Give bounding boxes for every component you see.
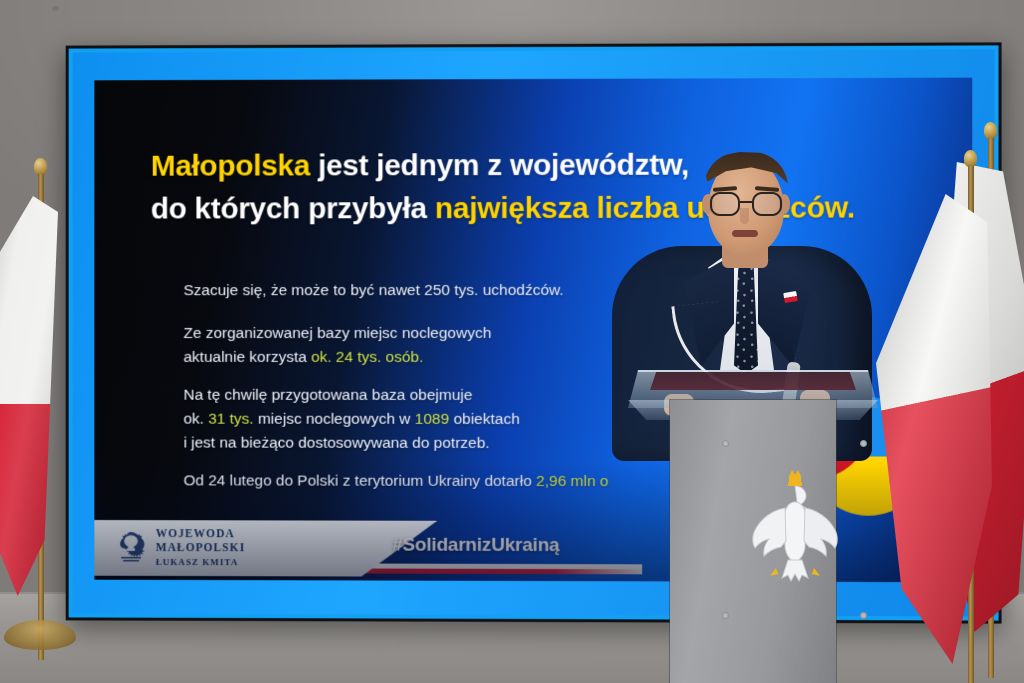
flag-shading: [876, 194, 992, 664]
podium-screw: [722, 440, 729, 447]
footer-logo-text: WOJEWODA MAŁOPOLSKI ŁUKASZ KMITA: [156, 528, 246, 568]
flag-shading: [0, 196, 58, 596]
solidarity-hashtag: #SolidarnizUkrainą: [392, 535, 559, 557]
logo-line-3: ŁUKASZ KMITA: [156, 557, 246, 568]
eagle-tail: [782, 560, 808, 581]
footer-red-line: [352, 568, 642, 574]
podium-front-panel: [670, 400, 836, 683]
paragraph-line: aktualnie korzysta ok. 24 tys. osób.: [184, 346, 492, 370]
speaker-nose: [740, 208, 749, 224]
accent-figure: 31 tys.: [208, 411, 253, 428]
accent-figure: ok. 24 tys.: [311, 349, 381, 366]
eagle-wing-right: [804, 508, 837, 556]
eagle-talon-right: [810, 568, 820, 579]
paragraph-line: ok. 31 tys. miejsc noclegowych w 1089 ob…: [184, 408, 520, 432]
flag-finial: [984, 122, 997, 139]
paragraph-line: Na tę chwilę przygotowana baza obejmuje: [184, 384, 520, 408]
text-run: obiektach: [449, 411, 520, 428]
flag-stand-base: [4, 620, 76, 650]
paragraph-line: Szacuje się, że może to być nawet 250 ty…: [184, 279, 564, 303]
eagle-body: [785, 502, 805, 563]
flag-finial: [964, 150, 977, 167]
headline-highlight-region: Małopolska: [151, 149, 310, 182]
eagle-wing-left: [753, 508, 786, 556]
podium-top-shadow: [650, 372, 856, 390]
eagle-talon-left: [770, 568, 780, 579]
flag-cloth: [876, 194, 992, 664]
paragraph-line: Od 24 lutego do Polski z terytorium Ukra…: [184, 469, 609, 494]
ceiling-fixture-dot: [52, 6, 59, 11]
podium-screw: [860, 440, 867, 447]
polish-flag-right-front: [884, 150, 1004, 683]
conference-room-background: Małopolska jest jednym z województw, do …: [0, 0, 1024, 683]
speaking-podium: [628, 370, 878, 683]
text-run: Ze zorganizowanej bazy miejsc noclegowyc…: [184, 325, 492, 342]
flag-cloth: [0, 196, 58, 596]
speaker-mouth: [732, 230, 758, 237]
text-run: Na tę chwilę przygotowana baza obejmuje: [184, 387, 473, 404]
podium-glass-right-wing: [834, 400, 878, 420]
podium-screw: [860, 612, 867, 619]
slide-paragraph-prepared-base: Na tę chwilę przygotowana baza obejmuje …: [184, 384, 520, 456]
accent-figure: 1089: [415, 411, 449, 428]
text-run: i jest na bieżąco dostosowywana do potrz…: [184, 435, 490, 452]
text-run: Szacuje się, że może to być nawet 250 ty…: [184, 282, 564, 299]
logo-line-2: MAŁOPOLSKI: [156, 542, 246, 556]
text-run: miejsc noclegowych w: [254, 411, 415, 428]
podium-glass-left-wing: [628, 400, 672, 420]
eyeglasses-lens-right: [752, 192, 782, 216]
eagle-crown: [789, 470, 801, 482]
flag-finial: [34, 158, 47, 175]
paragraph-line: Ze zorganizowanej bazy miejsc noclegowyc…: [184, 322, 492, 346]
podium-screw: [722, 612, 729, 619]
slide-paragraph-arrivals: Od 24 lutego do Polski z terytorium Ukra…: [184, 469, 609, 494]
headline-line-2-lead: do których przybyła: [151, 192, 435, 225]
text-run: Od 24 lutego do Polski z terytorium Ukra…: [184, 472, 537, 490]
text-run: osób.: [381, 349, 423, 366]
polish-eagle-emblem-icon: [742, 460, 848, 600]
polish-flag-left: [0, 160, 92, 660]
eyeglasses-lens-left: [710, 192, 740, 216]
eyeglasses-bridge: [740, 201, 752, 203]
slide-paragraph-estimate: Szacuje się, że może to być nawet 250 ty…: [184, 279, 564, 303]
paragraph-line: i jest na bieżąco dostosowywana do potrz…: [184, 432, 520, 456]
eagle-crown-band: [788, 482, 802, 486]
text-run: aktualnie korzysta: [184, 349, 311, 366]
slide-paragraph-accommodation-usage: Ze zorganizowanej bazy miejsc noclegowyc…: [184, 322, 492, 370]
text-run: ok.: [184, 411, 209, 428]
accent-figure: 2,96 mln o: [536, 473, 608, 490]
logo-line-1: WOJEWODA: [156, 528, 246, 542]
polish-eagle-emblem-icon: [114, 529, 148, 567]
